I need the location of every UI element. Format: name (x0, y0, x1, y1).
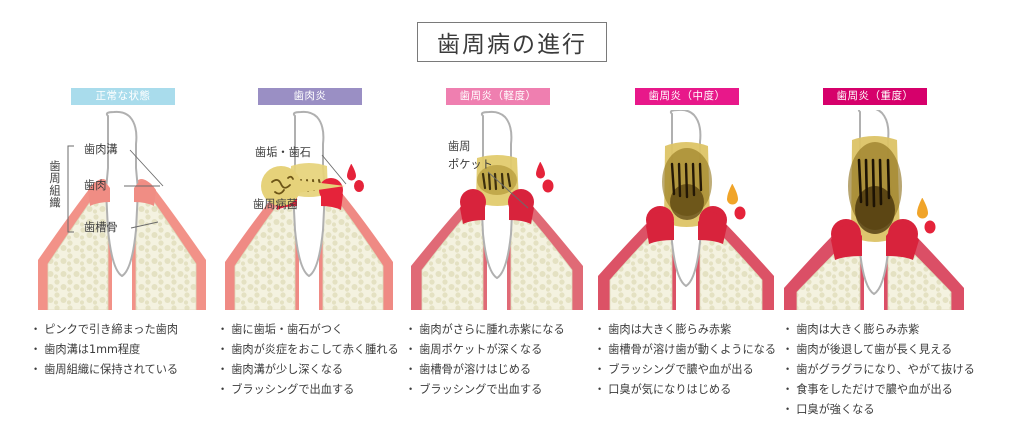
page-title-box: 歯周病の進行 (417, 22, 607, 62)
bullet-text: 歯周組織に保持されている (44, 363, 178, 376)
bullet-text: 歯肉溝が少し深くなる (231, 363, 343, 376)
list-item: ・歯肉溝は1mm程度 (30, 340, 226, 360)
bullet-text: 歯肉は大きく膨らみ赤紫 (796, 323, 919, 336)
list-item: ・ピンクで引き締まった歯肉 (30, 320, 226, 340)
blood-drop-icon (354, 180, 364, 192)
list-item: ・歯がグラグラになり、やがて抜ける (782, 360, 978, 380)
bullet-text: ブラッシングで出血する (419, 383, 542, 396)
bullet-text: ブラッシングで膿や血が出る (608, 363, 753, 376)
list-item: ・ブラッシングで出血する (405, 380, 601, 400)
list-item: ・ブラッシングで出血する (217, 380, 413, 400)
illustration-mild-periodontitis-tooth (403, 110, 593, 310)
bullet-text: ピンクで引き締まった歯肉 (44, 323, 178, 336)
list-item: ・歯肉がさらに腫れ赤紫になる (405, 320, 601, 340)
bullet-dot-icon: ・ (217, 343, 228, 356)
annotation-gingiva: 歯肉 (84, 179, 106, 193)
bullet-list-normal: ・ピンクで引き締まった歯肉 ・歯肉溝は1mm程度 ・歯周組織に保持されている (30, 320, 226, 380)
bullet-dot-icon: ・ (217, 363, 228, 376)
annotation-periodontal-pocket-line1: 歯周 (448, 140, 470, 154)
pus-drop-icon (727, 184, 738, 205)
blood-drop-icon (536, 162, 545, 179)
bullet-dot-icon: ・ (594, 363, 605, 376)
list-item: ・口臭が気になりはじめる (594, 380, 790, 400)
list-item: ・歯周ポケットが深くなる (405, 340, 601, 360)
annotation-periodontal-pocket-line2: ポケット (448, 158, 493, 172)
bullet-dot-icon: ・ (30, 363, 41, 376)
bullet-text: 口臭が気になりはじめる (608, 383, 731, 396)
bullet-text: 歯肉がさらに腫れ赤紫になる (419, 323, 564, 336)
illustration-gingivitis-tooth (215, 110, 405, 310)
bullet-list-gingivitis: ・歯に歯垢・歯石がつく ・歯肉が炎症をおこして赤く腫れる ・歯肉溝が少し深くなる… (217, 320, 413, 400)
bullet-dot-icon: ・ (782, 363, 793, 376)
bullet-dot-icon: ・ (594, 383, 605, 396)
stage-column-periodontitis-moderate: 歯周炎（中度） (592, 88, 782, 438)
bullet-dot-icon: ・ (405, 323, 416, 336)
bullet-dot-icon: ・ (594, 343, 605, 356)
bullet-dot-icon: ・ (594, 323, 605, 336)
bullet-list-periodontitis-moderate: ・歯肉は大きく膨らみ赤紫 ・歯槽骨が溶け歯が動くようになる ・ブラッシングで膿や… (594, 320, 790, 400)
bullet-list-periodontitis-mild: ・歯肉がさらに腫れ赤紫になる ・歯周ポケットが深くなる ・歯槽骨が溶けはじめる … (405, 320, 601, 400)
list-item: ・歯周組織に保持されている (30, 360, 226, 380)
bullet-text: 歯槽骨が溶け歯が動くようになる (608, 343, 776, 356)
left-group-label-periodontal-tissue: 歯周組織 (48, 160, 61, 209)
stage-label-gingivitis: 歯肉炎 (258, 88, 362, 105)
list-item: ・歯肉は大きく膨らみ赤紫 (594, 320, 790, 340)
stage-column-periodontitis-mild: 歯周炎（軽度） (403, 88, 593, 438)
bullet-text: 歯周ポケットが深くなる (419, 343, 542, 356)
bullet-text: 食事をしただけで膿や血が出る (796, 383, 953, 396)
illustration-normal-tooth (28, 110, 218, 310)
bullet-text: 歯肉は大きく膨らみ赤紫 (608, 323, 731, 336)
annotation-plaque-tartar: 歯垢・歯石 (255, 146, 311, 160)
bullet-text: 歯がグラグラになり、やがて抜ける (796, 363, 975, 376)
list-item: ・歯に歯垢・歯石がつく (217, 320, 413, 340)
illustration-severe-periodontitis-tooth (780, 110, 970, 310)
list-item: ・ブラッシングで膿や血が出る (594, 360, 790, 380)
bullet-dot-icon: ・ (405, 383, 416, 396)
pus-drop-icon (917, 198, 928, 219)
bullet-dot-icon: ・ (405, 363, 416, 376)
list-item: ・歯槽骨が溶けはじめる (405, 360, 601, 380)
bullet-list-periodontitis-severe: ・歯肉は大きく膨らみ赤紫 ・歯肉が後退して歯が長く見える ・歯がグラグラになり、… (782, 320, 978, 420)
list-item: ・歯肉は大きく膨らみ赤紫 (782, 320, 978, 340)
stage-label-periodontitis-moderate: 歯周炎（中度） (635, 88, 739, 105)
annotation-periodontal-bacteria: 歯周病菌 (253, 198, 298, 212)
blood-drop-icon (543, 180, 554, 193)
bullet-dot-icon: ・ (217, 323, 228, 336)
bullet-text: 歯槽骨が溶けはじめる (419, 363, 531, 376)
bullet-text: 歯肉溝は1mm程度 (44, 343, 140, 356)
page-title: 歯周病の進行 (437, 25, 587, 59)
annotation-alveolar-bone: 歯槽骨 (84, 221, 118, 235)
stage-column-gingivitis: 歯肉炎 (215, 88, 405, 438)
stage-column-normal: 正常な状態 ・ピンクで引き締まった歯肉 (28, 88, 218, 438)
stage-label-periodontitis-severe: 歯周炎（重度） (823, 88, 927, 105)
list-item: ・歯槽骨が溶け歯が動くようになる (594, 340, 790, 360)
blood-drop-icon (735, 207, 746, 220)
bullet-text: 口臭が強くなる (796, 403, 874, 416)
list-item: ・歯肉が炎症をおこして赤く腫れる (217, 340, 413, 360)
bullet-dot-icon: ・ (782, 403, 793, 416)
annotation-gingival-sulcus: 歯肉溝 (84, 143, 118, 157)
bullet-dot-icon: ・ (217, 383, 228, 396)
bullet-dot-icon: ・ (405, 343, 416, 356)
list-item: ・歯肉が後退して歯が長く見える (782, 340, 978, 360)
bullet-dot-icon: ・ (782, 323, 793, 336)
bullet-dot-icon: ・ (782, 343, 793, 356)
bullet-dot-icon: ・ (30, 343, 41, 356)
blood-drop-icon (347, 164, 356, 181)
stage-column-periodontitis-severe: 歯周炎（重度） (780, 88, 970, 438)
list-item: ・歯肉溝が少し深くなる (217, 360, 413, 380)
stage-label-periodontitis-mild: 歯周炎（軽度） (446, 88, 550, 105)
illustration-moderate-periodontitis-tooth (592, 110, 782, 310)
list-item: ・食事をしただけで膿や血が出る (782, 380, 978, 400)
stage-label-normal: 正常な状態 (71, 88, 175, 105)
list-item: ・口臭が強くなる (782, 400, 978, 420)
bullet-dot-icon: ・ (782, 383, 793, 396)
bullet-text: 歯肉が後退して歯が長く見える (796, 343, 952, 356)
bullet-text: ブラッシングで出血する (231, 383, 354, 396)
bullet-text: 歯に歯垢・歯石がつく (231, 323, 343, 336)
blood-drop-icon (925, 221, 936, 234)
bullet-dot-icon: ・ (30, 323, 41, 336)
bullet-text: 歯肉が炎症をおこして赤く腫れる (231, 343, 398, 356)
